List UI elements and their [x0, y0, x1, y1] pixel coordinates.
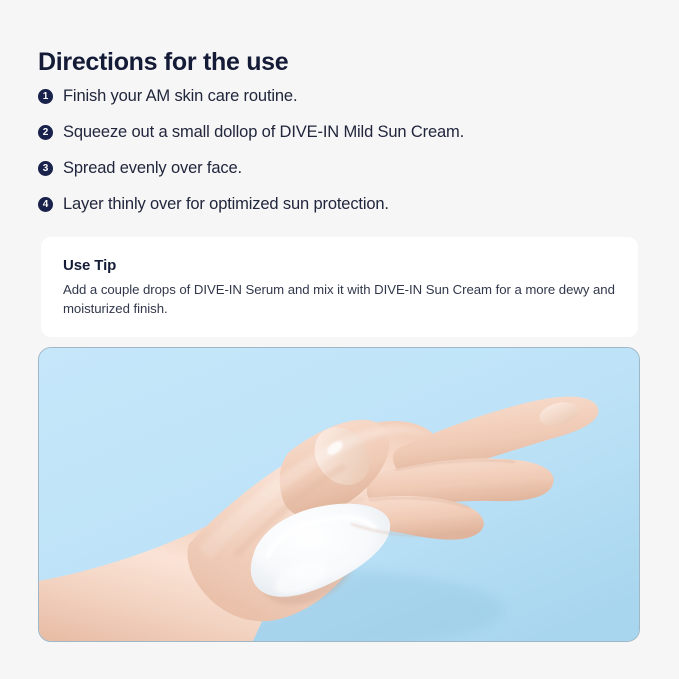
step-number-badge: 3 [38, 161, 53, 176]
step-number-badge: 4 [38, 197, 53, 212]
step-text: Finish your AM skin care routine. [63, 86, 297, 107]
product-directions-page: Directions for the use 1 Finish your AM … [0, 0, 679, 679]
step-text: Spread evenly over face. [63, 158, 242, 179]
list-item: 3 Spread evenly over face. [38, 158, 638, 179]
step-number-badge: 2 [38, 125, 53, 140]
step-number-badge: 1 [38, 89, 53, 104]
use-tip-title: Use Tip [63, 257, 616, 274]
steps-list: 1 Finish your AM skin care routine. 2 Sq… [38, 86, 638, 231]
list-item: 4 Layer thinly over for optimized sun pr… [38, 194, 638, 215]
step-text: Layer thinly over for optimized sun prot… [63, 194, 389, 215]
step-text: Squeeze out a small dollop of DIVE-IN Mi… [63, 122, 464, 143]
list-item: 1 Finish your AM skin care routine. [38, 86, 638, 107]
product-usage-photo [38, 347, 640, 642]
page-title: Directions for the use [38, 47, 288, 77]
hand-with-cream-illustration [39, 348, 639, 641]
use-tip-body: Add a couple drops of DIVE-IN Serum and … [63, 281, 616, 318]
use-tip-card: Use Tip Add a couple drops of DIVE-IN Se… [41, 237, 638, 337]
list-item: 2 Squeeze out a small dollop of DIVE-IN … [38, 122, 638, 143]
